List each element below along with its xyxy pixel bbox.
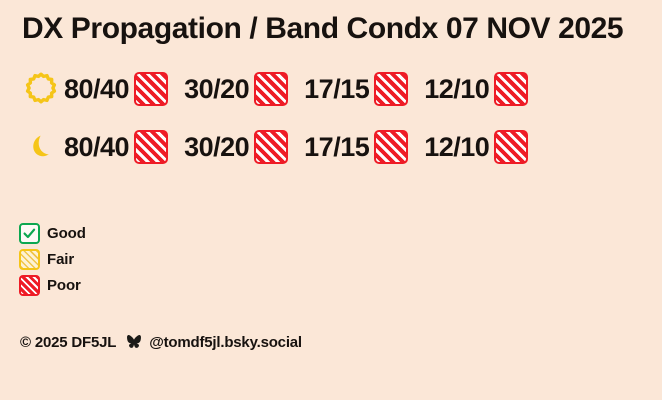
band-label: 80/40 (64, 132, 129, 163)
band-row-night: 80/40 30/20 17/15 12/10 (18, 124, 528, 170)
band-cell-17-15-day: 17/15 (304, 72, 408, 106)
legend: Good Fair Poor (19, 220, 86, 298)
band-row-day: 80/40 30/20 17/15 12/10 (18, 66, 528, 112)
legend-swatch-good (19, 223, 40, 244)
condition-swatch-poor (374, 130, 408, 164)
condition-swatch-poor (494, 72, 528, 106)
legend-item-good: Good (19, 220, 86, 246)
condition-swatch-poor (254, 130, 288, 164)
condition-swatch-poor (374, 72, 408, 106)
band-cell-80-40-day: 80/40 (64, 72, 168, 106)
band-cells-day: 80/40 30/20 17/15 12/10 (64, 72, 528, 106)
band-label: 30/20 (184, 132, 249, 163)
band-cell-80-40-night: 80/40 (64, 130, 168, 164)
legend-swatch-poor (19, 275, 40, 296)
sun-icon (18, 66, 64, 112)
band-cell-30-20-night: 30/20 (184, 130, 288, 164)
band-label: 80/40 (64, 74, 129, 105)
legend-item-poor: Poor (19, 272, 86, 298)
band-label: 17/15 (304, 132, 369, 163)
moon-icon (18, 124, 64, 170)
band-cell-30-20-day: 30/20 (184, 72, 288, 106)
footer-handle: @tomdf5jl.bsky.social (149, 334, 302, 351)
legend-label: Fair (47, 251, 74, 268)
condition-swatch-poor (134, 130, 168, 164)
page-title: DX Propagation / Band Condx 07 NOV 2025 (22, 12, 623, 46)
bluesky-butterfly-icon (124, 332, 144, 352)
footer: © 2025 DF5JL @tomdf5jl.bsky.social (20, 332, 302, 352)
band-cells-night: 80/40 30/20 17/15 12/10 (64, 130, 528, 164)
band-label: 30/20 (184, 74, 249, 105)
legend-swatch-fair (19, 249, 40, 270)
footer-copyright: © 2025 DF5JL (20, 334, 116, 351)
band-cell-17-15-night: 17/15 (304, 130, 408, 164)
band-label: 17/15 (304, 74, 369, 105)
condition-swatch-poor (254, 72, 288, 106)
legend-label: Poor (47, 277, 81, 294)
band-label: 12/10 (424, 132, 489, 163)
band-cell-12-10-day: 12/10 (424, 72, 528, 106)
legend-label: Good (47, 225, 86, 242)
propagation-card: DX Propagation / Band Condx 07 NOV 2025 … (0, 0, 662, 400)
legend-item-fair: Fair (19, 246, 86, 272)
band-label: 12/10 (424, 74, 489, 105)
condition-swatch-poor (134, 72, 168, 106)
band-cell-12-10-night: 12/10 (424, 130, 528, 164)
condition-swatch-poor (494, 130, 528, 164)
